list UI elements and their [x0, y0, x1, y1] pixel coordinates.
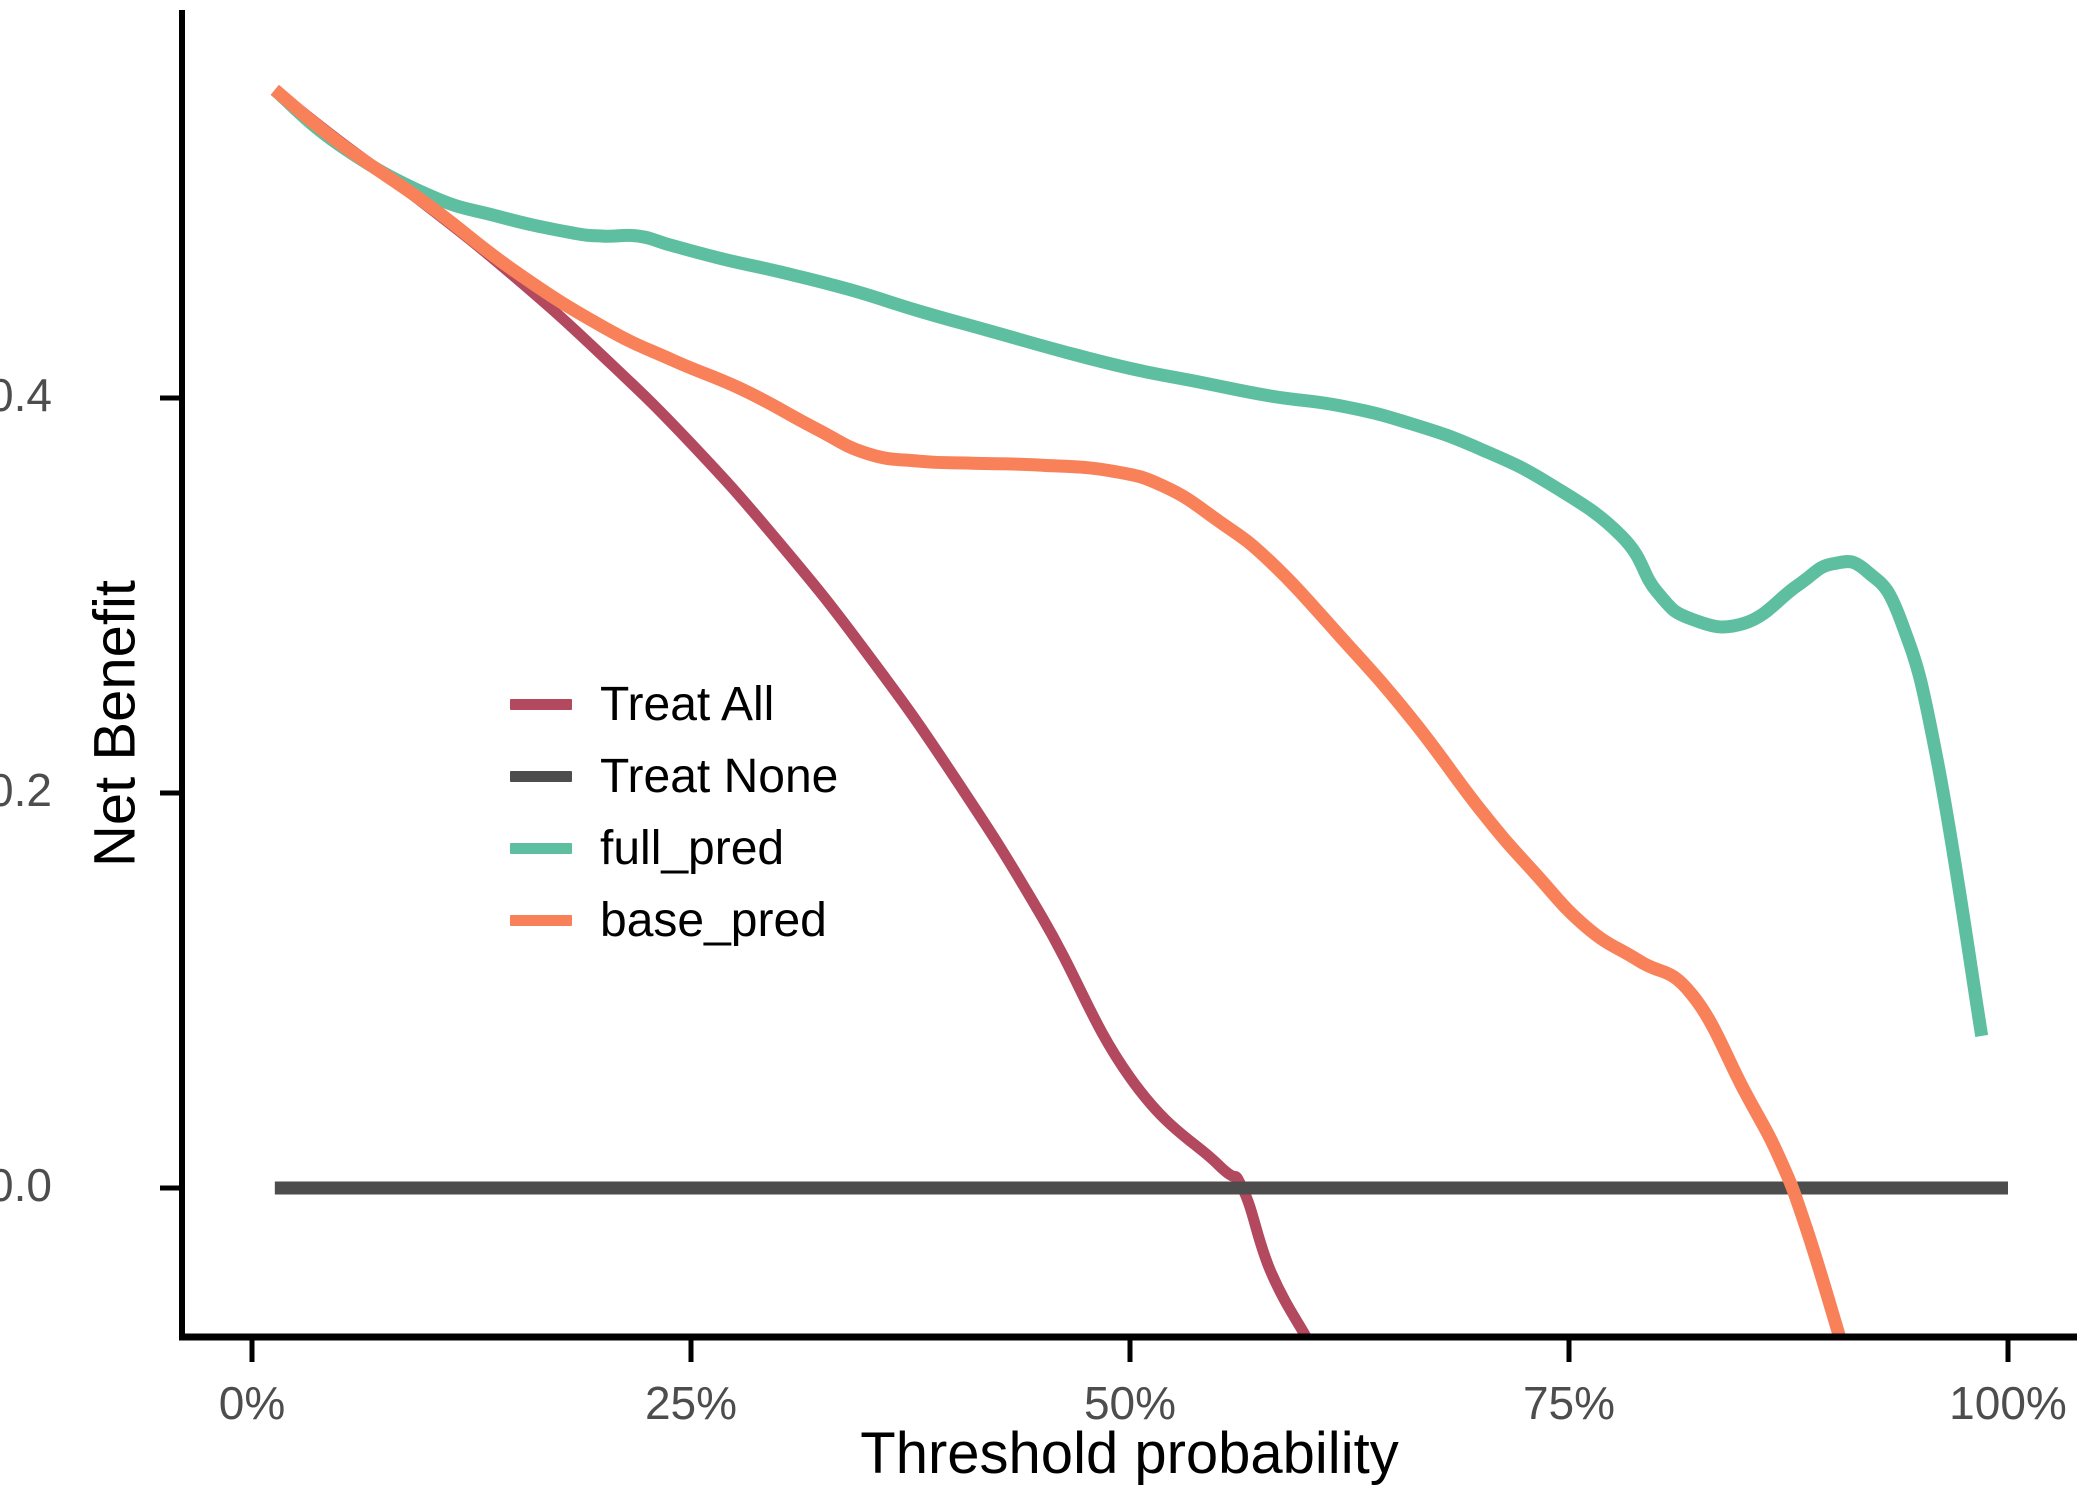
plot-svg: [0, 0, 2100, 1500]
plot-panel: [0, 0, 2100, 1500]
legend-label-treat-all: Treat All: [600, 672, 774, 738]
y-tick-label-2: 0.0: [0, 1162, 52, 1208]
y-tick-label-1: 0.2: [0, 767, 52, 813]
legend-label-treat-none: Treat None: [600, 744, 838, 810]
legend-key-full-pred: [510, 843, 572, 854]
legend-key-base-pred: [510, 915, 572, 926]
legend-label-full-pred: full_pred: [600, 816, 784, 882]
legend-key-treat-all: [510, 699, 572, 710]
legend-item-full-pred[interactable]: full_pred: [500, 816, 920, 888]
decision-curve-chart: 0.4 0.2 0.0 0% 25% 50% 75% 100% Net Bene…: [0, 0, 2100, 1500]
x-axis-title: Threshold probability: [182, 1420, 2077, 1487]
legend-item-base-pred[interactable]: base_pred: [500, 888, 920, 960]
y-axis-title: Net Benefit: [82, 494, 149, 954]
legend: Treat All Treat None full_pred base_pred: [500, 672, 920, 960]
legend-key-treat-none: [510, 771, 572, 782]
legend-item-treat-all[interactable]: Treat All: [500, 672, 920, 744]
legend-label-base-pred: base_pred: [600, 888, 827, 954]
legend-item-treat-none[interactable]: Treat None: [500, 744, 920, 816]
y-tick-label-0: 0.4: [0, 372, 52, 418]
